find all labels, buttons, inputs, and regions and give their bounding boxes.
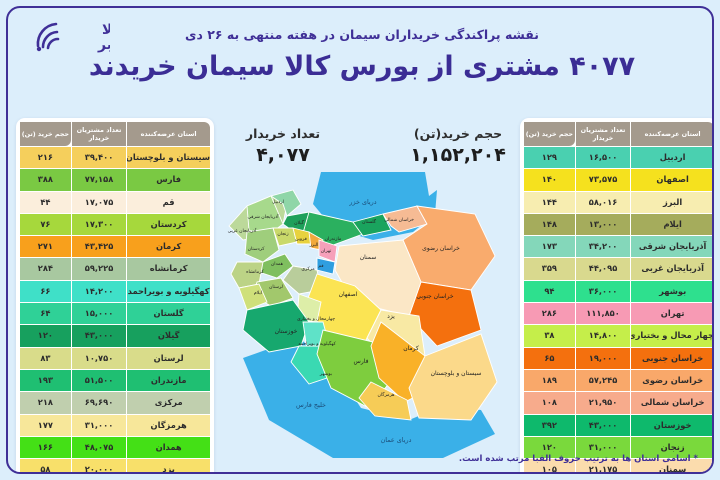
infographic-frame: کالا خبر نقشه پراکندگی خریداران سیمان در… (6, 6, 714, 474)
cell-volume: ۷۶ (20, 214, 71, 235)
cell-customers: ۵۸,۰۱۶ (576, 192, 631, 213)
table-row: گیلان۴۳,۰۰۰۱۲۰ (20, 325, 210, 346)
cell-customers: ۶۹,۶۹۰ (72, 392, 127, 413)
map-label: مرکزی (301, 266, 315, 272)
table-row: آذربایجان غربی۴۴,۰۹۵۳۵۹ (524, 258, 714, 279)
cell-customers: ۴۸,۰۷۵ (72, 437, 127, 458)
column-header-province: استان عرضه‌کننده (631, 122, 714, 146)
cell-province: قم (127, 192, 210, 213)
cell-province: ایلام (631, 214, 714, 235)
cell-volume: ۱۶۶ (20, 437, 71, 458)
column-header-volume: حجم خرید (تن) (524, 122, 575, 146)
stat-volume-value: ۱,۱۵۲,۲۰۴ (398, 143, 518, 167)
map-label: بوشهر (319, 372, 332, 377)
cell-volume: ۱۴۸ (524, 214, 575, 235)
table-row: اصفهان۷۳,۵۷۵۱۴۰ (524, 169, 714, 190)
map-label: قزوین (295, 237, 307, 242)
table-row: مرکزی۶۹,۶۹۰۲۱۸ (20, 392, 210, 413)
cell-customers: ۱۷,۰۷۵ (72, 192, 127, 213)
cell-customers: ۴۴,۰۹۵ (576, 258, 631, 279)
cell-customers: ۴۳,۰۰۰ (72, 325, 127, 346)
table-row: لرستان۱۰,۷۵۰۸۳ (20, 348, 210, 369)
cell-customers: ۲۰,۰۰۰ (72, 459, 127, 474)
cell-province: اصفهان (631, 169, 714, 190)
header-subtitle: نقشه پراکندگی خریداران سیمان در هفته منت… (8, 26, 714, 44)
table-row: کرمان۴۳,۴۲۵۲۷۱ (20, 236, 210, 257)
cell-volume: ۱۸۹ (524, 370, 575, 391)
map-label: خراسان شمالی (384, 218, 414, 223)
table-row: خراسان شمالی۲۱,۹۵۰۱۰۸ (524, 392, 714, 413)
cell-volume: ۱۴۰ (524, 169, 575, 190)
cell-customers: ۱۰,۷۵۰ (72, 348, 127, 369)
cell-customers: ۵۱,۵۰۰ (72, 370, 127, 391)
cell-customers: ۳۴,۲۰۰ (576, 236, 631, 257)
cell-customers: ۷۷,۱۵۸ (72, 169, 127, 190)
table-row: قم۱۷,۰۷۵۴۴ (20, 192, 210, 213)
cell-province: سیستان و بلوچستان (127, 147, 210, 168)
table-row: چهار محال و بختیاری۱۴,۸۰۰۳۸ (524, 325, 714, 346)
cell-volume: ۲۷۱ (20, 236, 71, 257)
stat-volume-label: حجم خرید(تن) (398, 126, 518, 142)
cell-volume: ۱۷۳ (524, 236, 575, 257)
column-header-province: استان عرضه‌کننده (127, 122, 210, 146)
cell-customers: ۱۴,۸۰۰ (576, 325, 631, 346)
cell-province: گیلان (127, 325, 210, 346)
cell-customers: ۳۱,۰۰۰ (72, 415, 127, 436)
cell-customers: ۴۳,۰۰۰ (576, 415, 631, 436)
cell-customers: ۱۵,۰۰۰ (72, 303, 127, 324)
cell-volume: ۱۴۴ (524, 192, 575, 213)
column-header-volume: حجم خرید (تن) (20, 122, 71, 146)
cell-volume: ۱۲۰ (20, 325, 71, 346)
cell-province: کردستان (127, 214, 210, 235)
stat-buyer-count: تعداد خریدار ۴,۰۷۷ (223, 126, 343, 167)
cell-customers: ۱۷,۳۰۰ (72, 214, 127, 235)
cell-volume: ۲۸۶ (524, 303, 575, 324)
cell-province: خراسان جنوبی (631, 348, 714, 369)
cell-volume: ۶۴ (20, 303, 71, 324)
cell-province: کرمانشاه (127, 258, 210, 279)
map-label: سمنان (360, 254, 377, 261)
map-label: کهگیلویه و بویراحمد (298, 340, 336, 347)
cell-province: البرز (631, 192, 714, 213)
map-label: دریای عمان (381, 436, 412, 444)
map-label: گلستان (362, 218, 377, 225)
map-label: لرستان (269, 285, 283, 290)
cell-volume: ۶۶ (20, 281, 71, 302)
cell-province: خراسان شمالی (631, 392, 714, 413)
map-label: خراسان رضوی (422, 245, 460, 252)
cell-volume: ۸۳ (20, 348, 71, 369)
table-row: خراسان جنوبی۱۹,۰۰۰۶۵ (524, 348, 714, 369)
table-row: البرز۵۸,۰۱۶۱۴۴ (524, 192, 714, 213)
cell-customers: ۱۶,۵۰۰ (576, 147, 631, 168)
table-row: یزد۲۰,۰۰۰۵۸ (20, 459, 210, 474)
cell-customers: ۱۱۱,۸۵۰ (576, 303, 631, 324)
cell-volume: ۳۸ (524, 325, 575, 346)
cell-province: مازندران (127, 370, 210, 391)
cell-customers: ۵۹,۲۲۵ (72, 258, 127, 279)
table-row: ایلام۱۳,۰۰۰۱۴۸ (524, 214, 714, 235)
iran-provinces-map: دریای خزرخلیج فارسدریای عماناردبیلآذربای… (213, 170, 513, 460)
table-row: هرمزگان۳۱,۰۰۰۱۷۷ (20, 415, 210, 436)
stat-purchase-volume: حجم خرید(تن) ۱,۱۵۲,۲۰۴ (398, 126, 518, 167)
table-row: کهگیلویه و بویراحمد۱۴,۲۰۰۶۶ (20, 281, 210, 302)
cell-volume: ۱۹۳ (20, 370, 71, 391)
table-row: سیستان و بلوچستان۳۹,۴۰۰۲۱۶ (20, 147, 210, 168)
cell-province: فارس (127, 169, 210, 190)
page-title: ۴۰۷۷ مشتری از بورس کالا سیمان خریدند (8, 50, 714, 84)
cell-province: لرستان (127, 348, 210, 369)
cell-province: آذربایجان شرقی (631, 236, 714, 257)
cell-customers: ۳۹,۴۰۰ (72, 147, 127, 168)
map-label: اردبیل (272, 200, 284, 205)
map-label: چهارمحال و بختیاری (297, 317, 335, 322)
cell-province: چهار محال و بختیاری (631, 325, 714, 346)
map-label: تهران (321, 249, 332, 254)
table-row: خوزستان۴۳,۰۰۰۳۹۲ (524, 415, 714, 436)
map-label: همدان (271, 262, 284, 267)
cell-volume: ۳۹۲ (524, 415, 575, 436)
cell-province: همدان (127, 437, 210, 458)
map-label: کرمانشاه (246, 269, 265, 275)
map-label: گیلان (294, 219, 305, 226)
map-label: زنجان (277, 232, 288, 237)
map-label: یزد (387, 313, 395, 320)
cell-volume: ۴۴ (20, 192, 71, 213)
table-row: مازندران۵۱,۵۰۰۱۹۳ (20, 370, 210, 391)
map-label: قم (318, 264, 323, 269)
cell-province: کهگیلویه و بویراحمد (127, 281, 210, 302)
column-header-customers: تعداد مشتریان خریدار (72, 122, 127, 146)
map-label: اصفهان (339, 291, 358, 298)
cell-volume: ۲۱۶ (20, 147, 71, 168)
cell-customers: ۷۳,۵۷۵ (576, 169, 631, 190)
provinces-table-left: استان عرضه‌کننده تعداد مشتریان خریدار حج… (16, 118, 214, 474)
map-label: خوزستان (275, 328, 298, 335)
table-header-row: استان عرضه‌کننده تعداد مشتریان خریدار حج… (20, 122, 210, 146)
cell-province: اردبیل (631, 147, 714, 168)
table-row: تهران۱۱۱,۸۵۰۲۸۶ (524, 303, 714, 324)
provinces-table-right: استان عرضه‌کننده تعداد مشتریان خریدار حج… (520, 118, 714, 474)
cell-customers: ۲۱,۹۵۰ (576, 392, 631, 413)
map-label: آذربایجان غربی (228, 228, 257, 234)
map-label: مازندران (325, 237, 342, 242)
map-label: کرمان (403, 345, 419, 352)
cell-customers: ۴۳,۴۲۵ (72, 236, 127, 257)
cell-volume: ۳۸۸ (20, 169, 71, 190)
table-row: اردبیل۱۶,۵۰۰۱۲۹ (524, 147, 714, 168)
cell-volume: ۱۲۹ (524, 147, 575, 168)
table-row: همدان۴۸,۰۷۵۱۶۶ (20, 437, 210, 458)
map-label: سیستان و بلوچستان (431, 370, 482, 377)
map-label: فارس (354, 358, 369, 365)
column-header-customers: تعداد مشتریان خریدار (576, 122, 631, 146)
table-row: گلستان۱۵,۰۰۰۶۴ (20, 303, 210, 324)
cell-province: خراسان رضوی (631, 370, 714, 391)
map-label: خراسان جنوبی (416, 293, 453, 300)
table-row: بوشهر۳۶,۰۰۰۹۴ (524, 281, 714, 302)
table-row: فارس۷۷,۱۵۸۳۸۸ (20, 169, 210, 190)
map-label: البرز (309, 243, 319, 248)
cell-customers: ۳۶,۰۰۰ (576, 281, 631, 302)
cell-volume: ۲۸۴ (20, 258, 71, 279)
footnote: * اسامی استان ها به ترتیب حروف الفبا مرت… (459, 454, 698, 464)
header: نقشه پراکندگی خریداران سیمان در هفته منت… (8, 26, 714, 84)
map-label: آذربایجان شرقی (247, 214, 279, 220)
stat-count-label: تعداد خریدار (223, 126, 343, 142)
cell-volume: ۲۱۸ (20, 392, 71, 413)
cell-customers: ۱۴,۲۰۰ (72, 281, 127, 302)
table-row: کردستان۱۷,۳۰۰۷۶ (20, 214, 210, 235)
stat-count-value: ۴,۰۷۷ (223, 143, 343, 167)
cell-volume: ۳۵۹ (524, 258, 575, 279)
cell-customers: ۱۳,۰۰۰ (576, 214, 631, 235)
table-row: کرمانشاه۵۹,۲۲۵۲۸۴ (20, 258, 210, 279)
table-row: آذربایجان شرقی۳۴,۲۰۰۱۷۳ (524, 236, 714, 257)
cell-province: مرکزی (127, 392, 210, 413)
cell-province: کرمان (127, 236, 210, 257)
cell-province: آذربایجان غربی (631, 258, 714, 279)
cell-volume: ۹۴ (524, 281, 575, 302)
cell-volume: ۱۷۷ (20, 415, 71, 436)
map-label: خلیج فارس (296, 401, 326, 409)
cell-province: بوشهر (631, 281, 714, 302)
cell-province: خوزستان (631, 415, 714, 436)
map-label: دریای خزر (348, 198, 376, 206)
cell-customers: ۱۹,۰۰۰ (576, 348, 631, 369)
table-row: خراسان رضوی۵۷,۲۴۵۱۸۹ (524, 370, 714, 391)
cell-volume: ۱۰۸ (524, 392, 575, 413)
map-label: هرمزگان (378, 391, 395, 398)
cell-province: هرمزگان (127, 415, 210, 436)
map-label: ایلام (254, 291, 262, 296)
table-header-row: استان عرضه‌کننده تعداد مشتریان خریدار حج… (524, 122, 714, 146)
map-label: کردستان (248, 246, 266, 252)
cell-province: گلستان (127, 303, 210, 324)
cell-volume: ۶۵ (524, 348, 575, 369)
cell-volume: ۵۸ (20, 459, 71, 474)
cell-province: تهران (631, 303, 714, 324)
cell-province: یزد (127, 459, 210, 474)
cell-customers: ۵۷,۲۴۵ (576, 370, 631, 391)
